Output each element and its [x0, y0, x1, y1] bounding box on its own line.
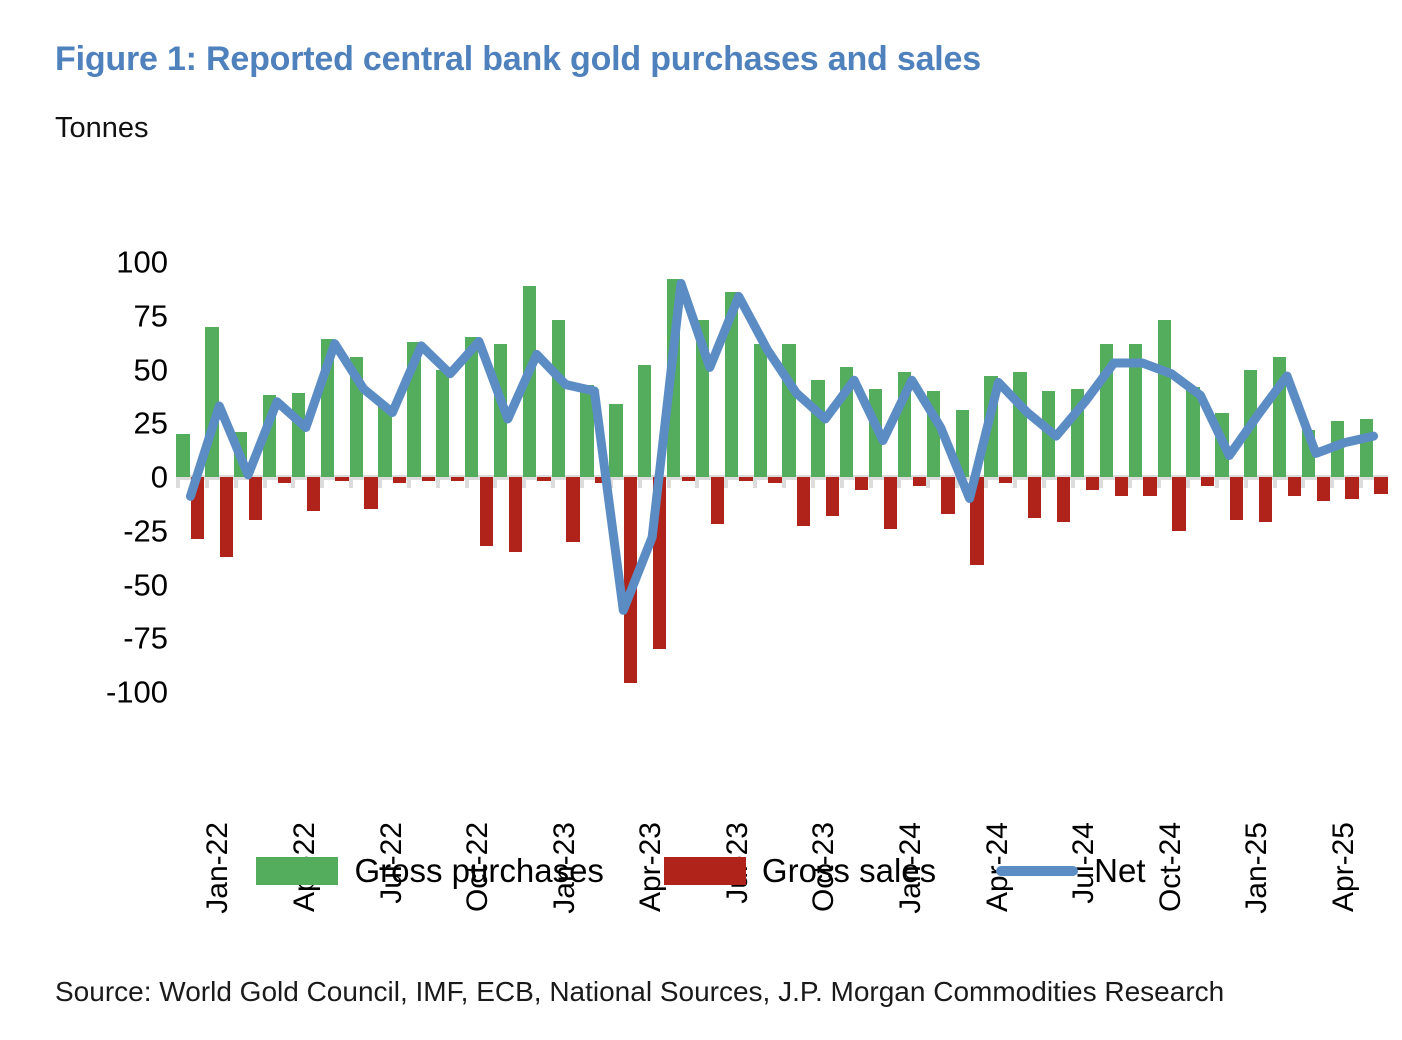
- legend-color-swatch-icon: [664, 857, 746, 885]
- net-line: [190, 284, 1373, 611]
- legend-label: Gross sales: [762, 852, 936, 890]
- source-note: Source: World Gold Council, IMF, ECB, Na…: [55, 976, 1224, 1008]
- y-axis-tick-label: 25: [134, 408, 168, 439]
- y-axis-tick-label: -100: [106, 677, 168, 708]
- chart-legend: Gross purchasesGross salesNet: [0, 848, 1402, 894]
- page-title: Figure 1: Reported central bank gold pur…: [55, 40, 981, 79]
- legend-label: Gross purchases: [354, 852, 603, 890]
- x-axis: Jan-22Apr-22Jul-22Oct-22Jan-23Apr-23Jul-…: [176, 700, 1388, 830]
- figure-container: Figure 1: Reported central bank gold pur…: [0, 0, 1402, 1040]
- y-axis-tick-label: -50: [123, 569, 168, 600]
- y-axis-tick-label: 75: [134, 300, 168, 331]
- axis-unit-label: Tonnes: [55, 112, 149, 145]
- y-axis: 1007550250-25-50-75-100: [96, 248, 168, 706]
- legend-color-swatch-icon: [256, 857, 338, 885]
- plot-area: [176, 262, 1388, 692]
- legend-item[interactable]: Gross sales: [664, 852, 936, 890]
- y-axis-tick-label: -75: [123, 623, 168, 654]
- y-axis-tick-label: 50: [134, 354, 168, 385]
- legend-item[interactable]: Gross purchases: [256, 852, 603, 890]
- y-axis-tick-label: -25: [123, 515, 168, 546]
- legend-line-swatch-icon: [996, 866, 1078, 876]
- y-axis-tick-label: 100: [116, 247, 168, 278]
- legend-item[interactable]: Net: [996, 852, 1145, 890]
- legend-label: Net: [1094, 852, 1145, 890]
- net-line-layer: [176, 262, 1388, 692]
- y-axis-tick-label: 0: [151, 462, 168, 493]
